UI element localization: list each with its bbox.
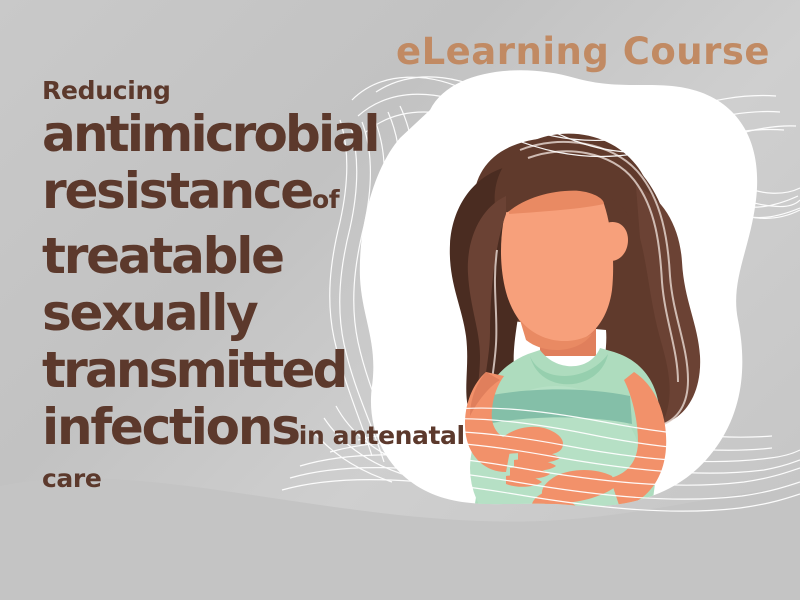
headline-line-infections: infectionsin antenatal xyxy=(42,399,562,464)
headline-line-treatable: treatable xyxy=(42,228,562,285)
headline-line-care: care xyxy=(42,464,562,494)
poster-canvas: eLearning Course Reducing antimicrobial … xyxy=(0,0,800,600)
headline-word-of: of xyxy=(312,185,339,214)
headline-line-reducing: Reducing xyxy=(42,76,562,106)
headline-phrase-in-antenatal: in antenatal xyxy=(299,421,465,450)
headline-word-resistance: resistance xyxy=(42,162,312,220)
text-layer: eLearning Course Reducing antimicrobial … xyxy=(0,0,800,600)
headline-block: Reducing antimicrobial resistanceof trea… xyxy=(42,76,562,494)
headline-word-infections: infections xyxy=(42,398,299,456)
elearning-course-badge: eLearning Course xyxy=(396,30,770,73)
headline-line-sexually: sexually xyxy=(42,285,562,342)
headline-line-antimicrobial: antimicrobial xyxy=(42,106,562,163)
headline-line-resistance: resistanceof xyxy=(42,163,562,228)
headline-line-transmitted: transmitted xyxy=(42,342,562,399)
